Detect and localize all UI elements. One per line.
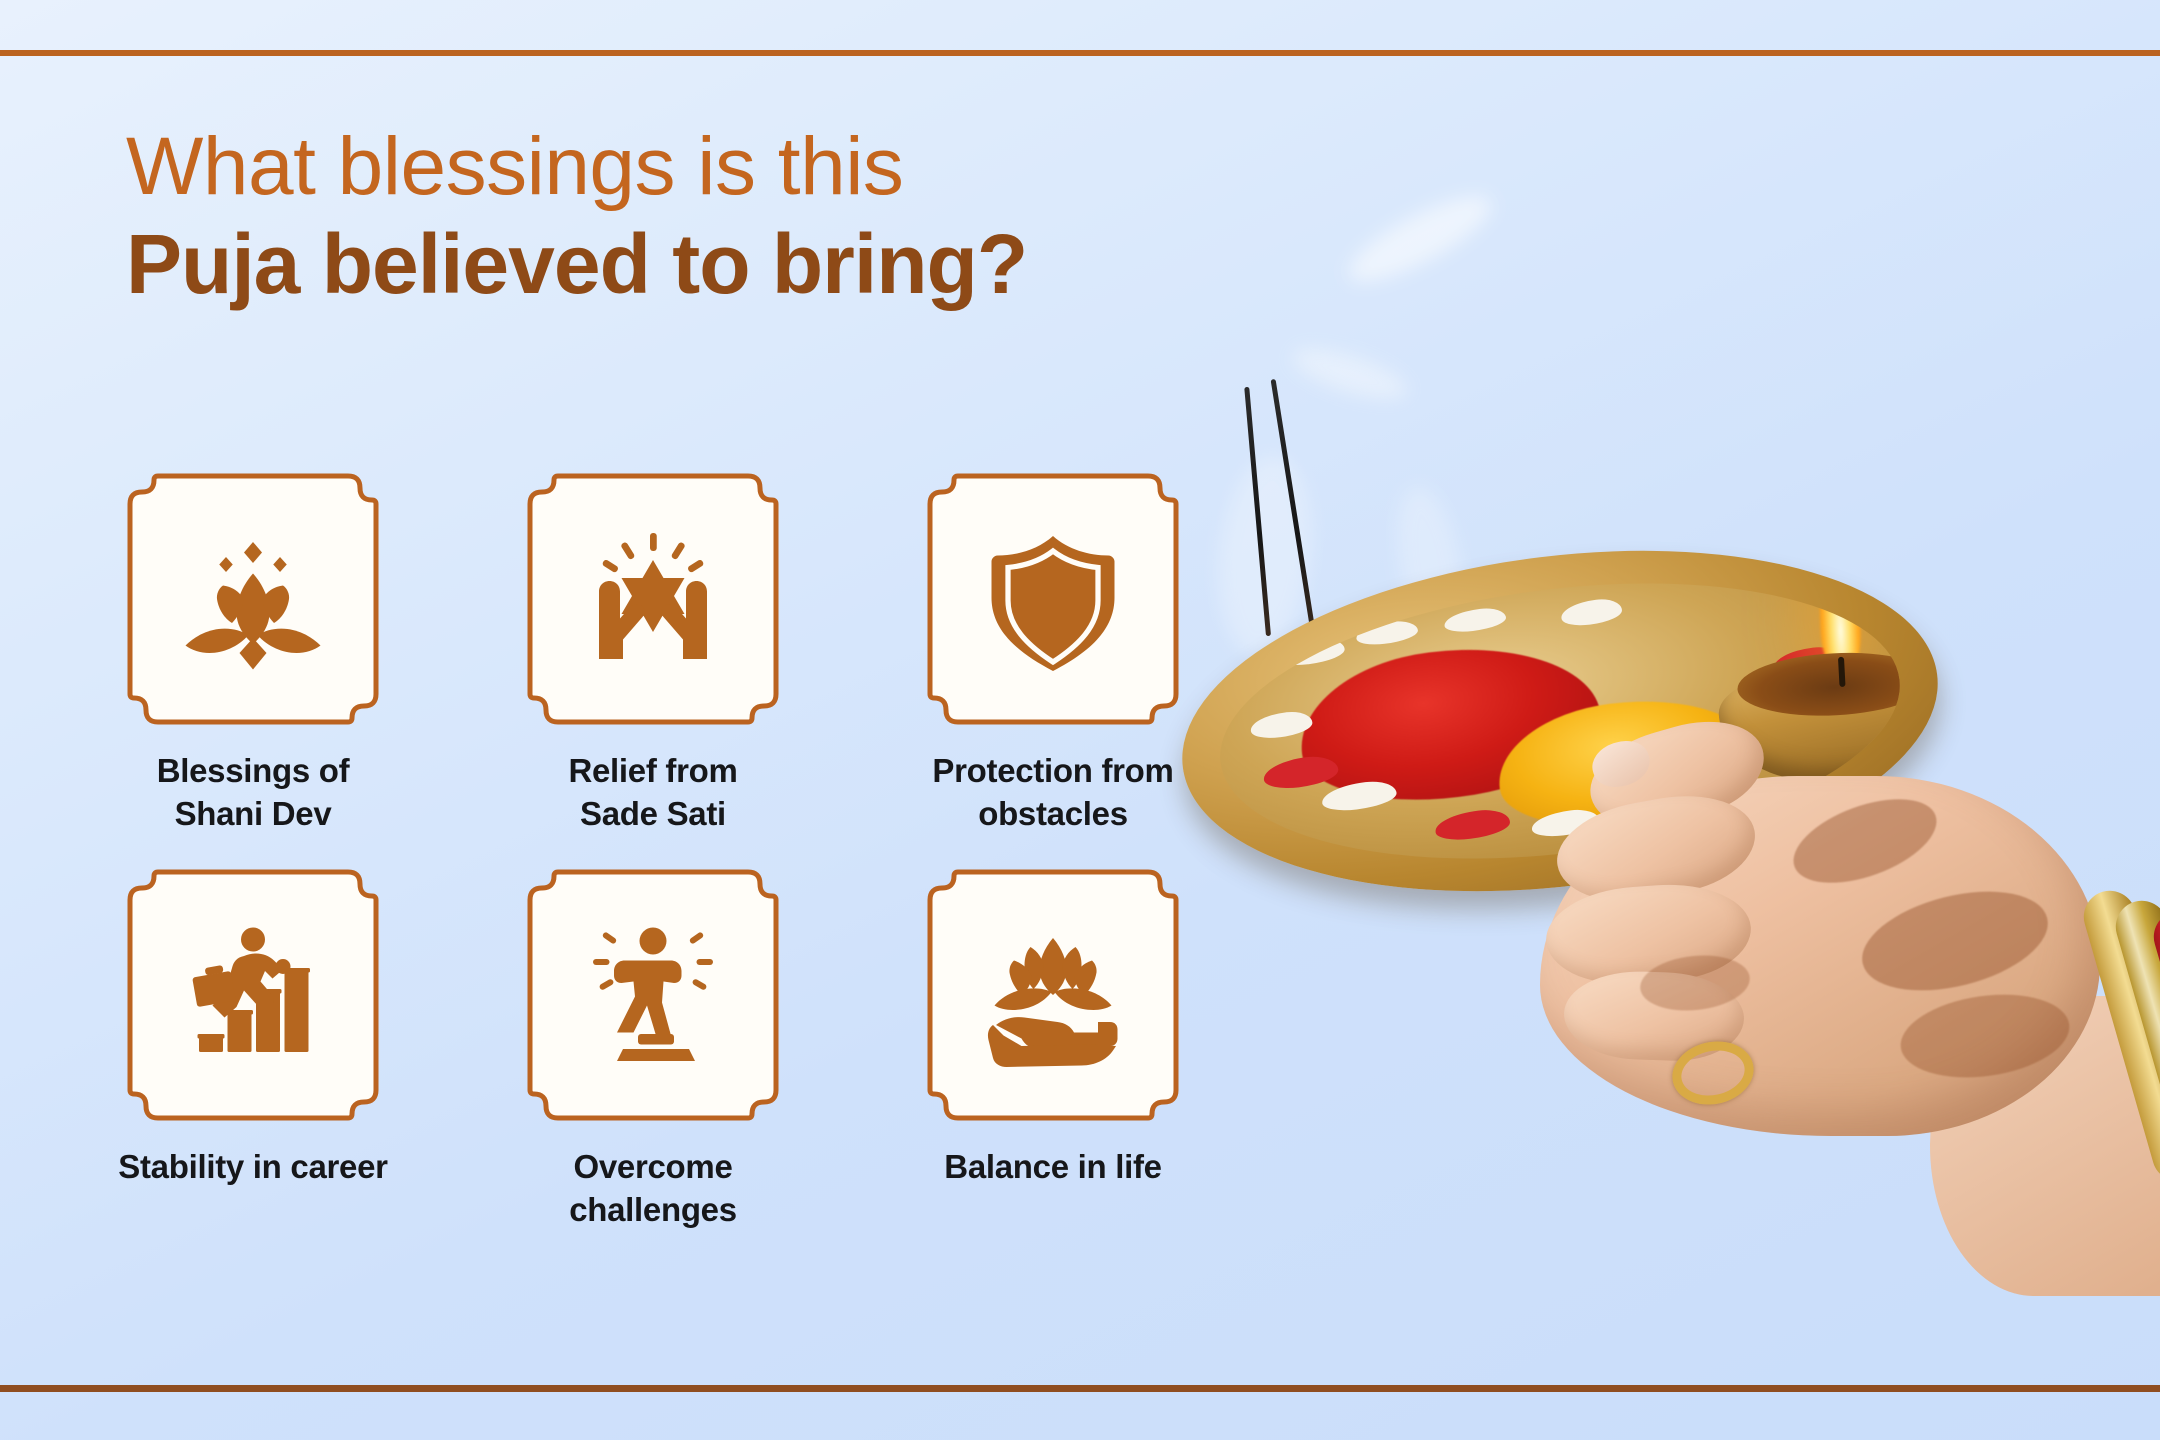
benefit-card [524,866,782,1124]
benefit-item-overcome-challenges: Overcome challenges [518,866,788,1232]
benefits-grid: Blessings of Shani Dev [118,470,1188,1232]
flower-petal [1443,605,1507,633]
smoke-wisp [1287,338,1412,409]
top-divider [0,50,2160,56]
flower-petal [1262,754,1340,792]
benefit-label: Overcome challenges [569,1146,737,1232]
benefit-label: Protection from obstacles [932,750,1173,836]
career-growth-chart-icon [178,920,328,1070]
infographic-canvas: What blessings is this Puja believed to … [0,0,2160,1440]
flower-petal [1559,597,1623,628]
lotus-sparkle-icon [178,524,328,674]
benefit-card [124,470,382,728]
benefit-card [924,866,1182,1124]
benefit-label: Stability in career [118,1146,387,1189]
benefit-card [524,470,782,728]
benefit-card [924,470,1182,728]
person-on-podium-icon [578,920,728,1070]
benefit-item-balance-in-life: Balance in life [918,866,1188,1232]
benefit-label: Relief from Sade Sati [568,750,737,836]
hand [1460,746,2160,1306]
shield-icon [978,524,1128,674]
hands-holding-star-icon [578,524,728,674]
benefit-label: Blessings of Shani Dev [157,750,350,836]
bottom-divider [0,1385,2160,1392]
hand-holding-lotus-icon [978,920,1128,1070]
benefit-item-protection-from-obstacles: Protection from obstacles [918,470,1188,836]
page-title: What blessings is this Puja believed to … [126,126,1426,308]
benefit-item-relief-from-sade-sati: Relief from Sade Sati [518,470,788,836]
title-line-2: Puja believed to bring? [126,220,1426,308]
title-line-1: What blessings is this [126,126,1426,208]
benefit-item-stability-in-career: Stability in career [118,866,388,1232]
benefit-label: Balance in life [944,1146,1161,1189]
benefit-item-blessings-of-shani-dev: Blessings of Shani Dev [118,470,388,836]
benefit-card [124,866,382,1124]
